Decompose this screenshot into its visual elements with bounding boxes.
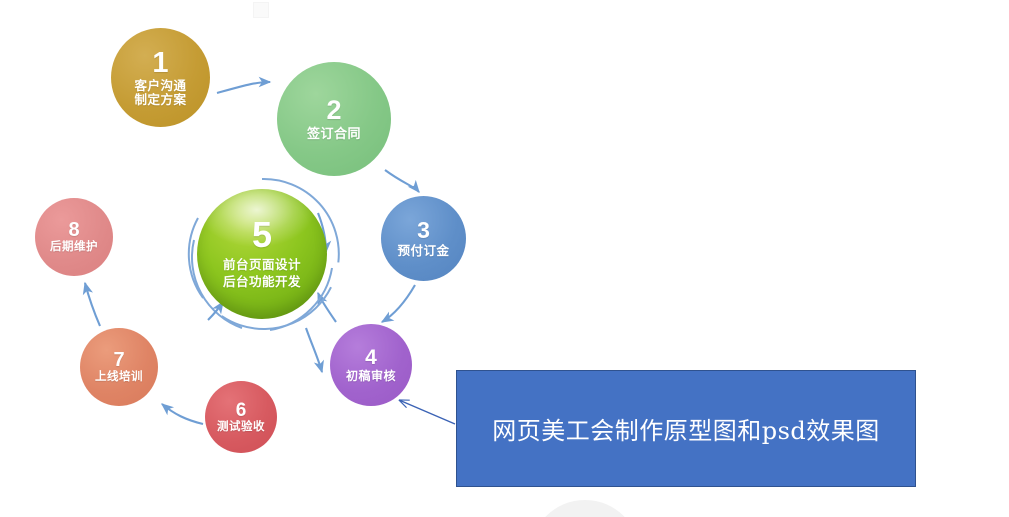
callout-text: 网页美工会制作原型图和psd效果图 bbox=[492, 411, 880, 446]
step-number-5: 5 bbox=[252, 217, 272, 253]
step-number-1: 1 bbox=[152, 49, 168, 78]
step-circle-3[interactable]: 3 预付订金 bbox=[381, 196, 466, 281]
step-circle-8[interactable]: 8 后期维护 bbox=[35, 198, 113, 276]
step-circle-6[interactable]: 6 测试验收 bbox=[205, 381, 277, 453]
step-number-7: 7 bbox=[113, 350, 124, 370]
arrow-2-to-3 bbox=[385, 170, 419, 192]
arrow-7-to-8 bbox=[85, 283, 100, 326]
arrow-5-to-6 bbox=[306, 328, 322, 372]
step-circle-4[interactable]: 4 初稿审核 bbox=[330, 324, 412, 406]
arrow-6-to-7 bbox=[162, 404, 203, 424]
step-label-7: 上线培训 bbox=[95, 371, 143, 384]
step-label-8: 后期维护 bbox=[50, 241, 98, 254]
step-circle-5[interactable]: 5 前台页面设计 后台功能开发 bbox=[197, 189, 327, 319]
step-number-2: 2 bbox=[326, 97, 341, 124]
step-number-6: 6 bbox=[236, 401, 247, 420]
arrow-1-to-2 bbox=[217, 82, 270, 93]
step-label-6: 测试验收 bbox=[217, 421, 265, 434]
step-number-3: 3 bbox=[417, 219, 430, 242]
step-label-4: 初稿审核 bbox=[346, 370, 396, 383]
step-label-1: 客户沟通 制定方案 bbox=[134, 79, 186, 107]
arrow-3-to-4 bbox=[382, 285, 415, 322]
step-circle-2[interactable]: 2 签订合同 bbox=[277, 62, 391, 176]
step-number-8: 8 bbox=[68, 220, 79, 240]
step-number-4: 4 bbox=[365, 347, 377, 368]
faint-circle-bottom bbox=[530, 500, 640, 517]
step-circle-7[interactable]: 7 上线培训 bbox=[80, 328, 158, 406]
step-circle-1[interactable]: 1 客户沟通 制定方案 bbox=[111, 28, 210, 127]
faint-artifact-top bbox=[253, 2, 269, 18]
step-label-2: 签订合同 bbox=[307, 127, 361, 142]
step-label-5: 前台页面设计 后台功能开发 bbox=[223, 257, 301, 291]
diagram-canvas: 1 客户沟通 制定方案 2 签订合同 3 预付订金 4 初稿审核 5 前台页面设… bbox=[0, 0, 1009, 517]
callout-pointer-arrow bbox=[399, 400, 455, 424]
callout-box[interactable]: 网页美工会制作原型图和psd效果图 bbox=[456, 370, 916, 487]
step-label-3: 预付订金 bbox=[397, 244, 449, 258]
arrow-4-to-5 bbox=[318, 293, 336, 322]
